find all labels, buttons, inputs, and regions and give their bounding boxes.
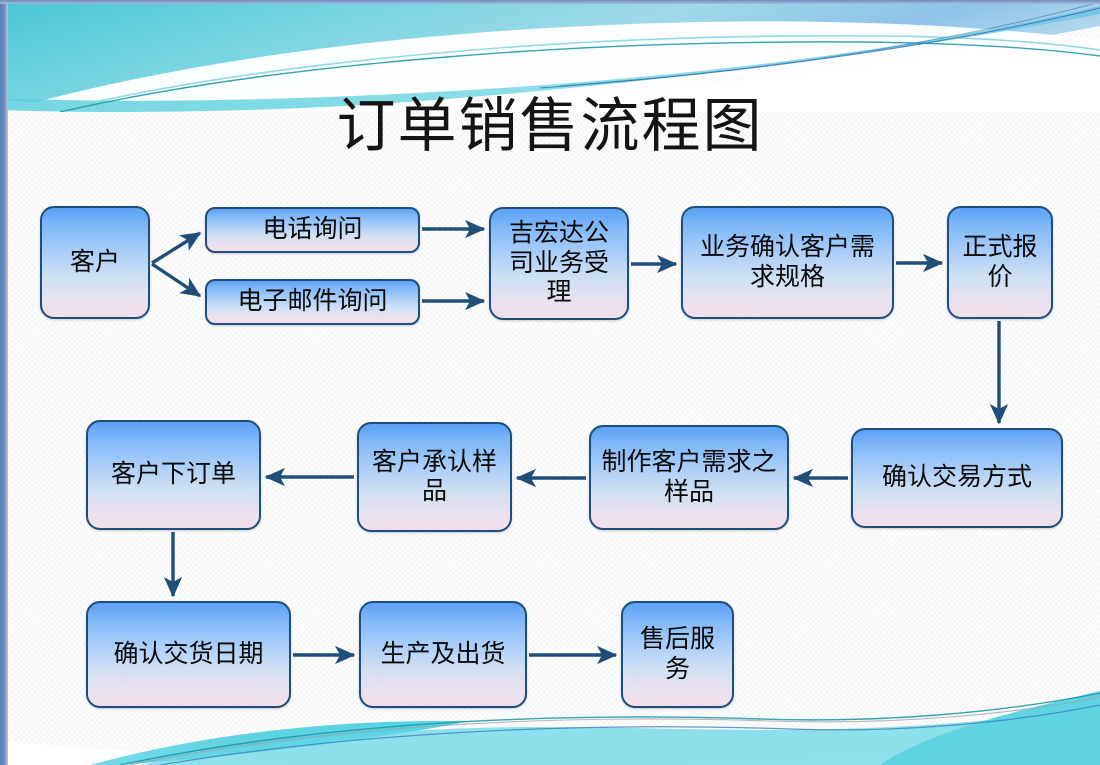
flow-node-label: 生产及出货 [380, 640, 505, 670]
flow-node-customer[interactable]: 客户 [40, 206, 150, 319]
slide-top-edge [0, 0, 1100, 4]
edge-n1-n2 [152, 233, 200, 263]
page-title: 订单销售流程图 [0, 96, 1100, 158]
flow-node-produce-sample[interactable]: 制作客户需求之样品 [589, 425, 789, 530]
slide-canvas: 订单销售流程图 [0, 0, 1100, 765]
flow-node-company-acceptance[interactable]: 吉宏达公司业务受理 [489, 207, 629, 320]
slide-left-edge [0, 0, 8, 765]
flow-node-label: 客户下订单 [111, 460, 236, 490]
flow-node-label: 业务确认客户需求规格 [689, 233, 886, 292]
flow-node-after-sales-service[interactable]: 售后服务 [621, 601, 734, 708]
flow-node-label: 确认交货日期 [113, 640, 263, 670]
flow-node-formal-quotation[interactable]: 正式报价 [947, 206, 1053, 319]
flow-node-customer-place-order[interactable]: 客户下订单 [86, 420, 261, 530]
flow-node-label: 吉宏达公司业务受理 [497, 219, 621, 308]
flow-node-confirm-trade-method[interactable]: 确认交易方式 [851, 428, 1063, 528]
flow-node-label: 售后服务 [629, 625, 726, 684]
flow-node-production-shipment[interactable]: 生产及出货 [359, 601, 527, 708]
flow-node-confirm-delivery-date[interactable]: 确认交货日期 [86, 601, 291, 708]
edge-n1-n3 [152, 264, 200, 296]
flow-node-email-inquiry[interactable]: 电子邮件询问 [205, 279, 420, 325]
flow-node-label: 电子邮件询问 [237, 287, 387, 317]
flow-node-customer-approve-sample[interactable]: 客户承认样品 [357, 422, 512, 532]
flow-node-label: 正式报价 [955, 233, 1045, 292]
flow-node-label: 客户 [70, 248, 120, 278]
flow-node-confirm-requirements[interactable]: 业务确认客户需求规格 [681, 206, 894, 319]
flow-node-label: 客户承认样品 [365, 448, 504, 507]
flow-node-label: 制作客户需求之样品 [597, 448, 781, 507]
flow-node-label: 确认交易方式 [882, 463, 1032, 493]
flow-node-phone-inquiry[interactable]: 电话询问 [205, 207, 420, 253]
flow-node-label: 电话询问 [262, 215, 362, 245]
